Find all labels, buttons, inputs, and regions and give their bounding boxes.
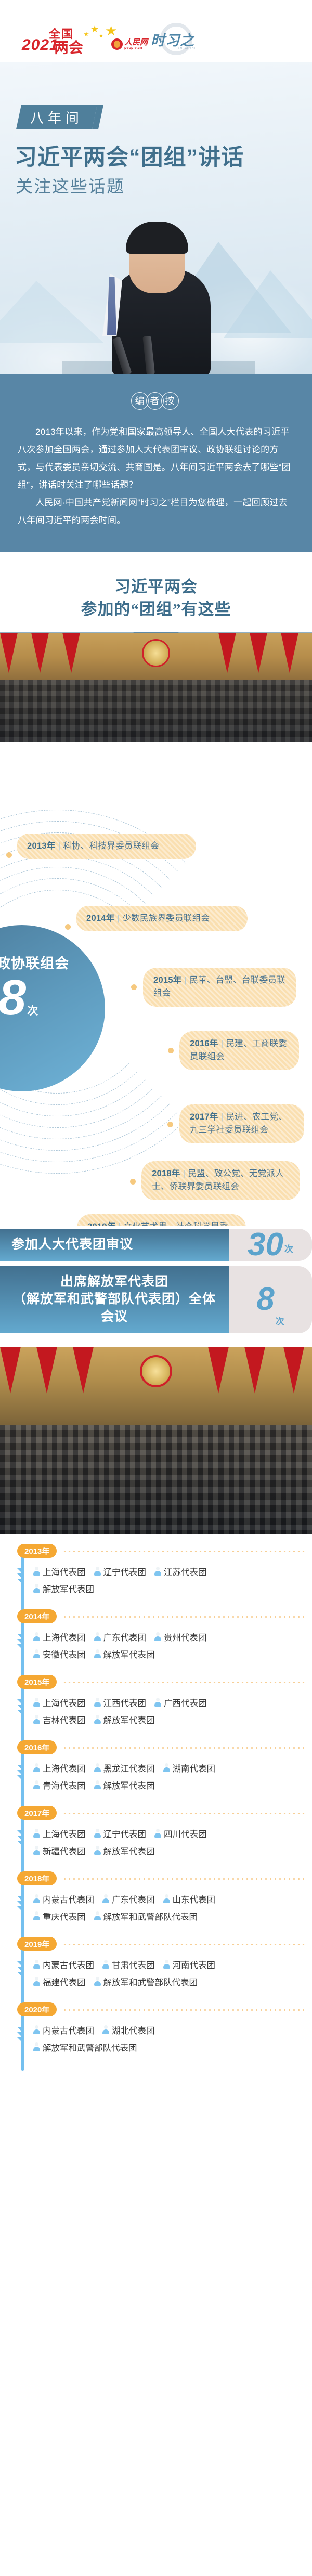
delegation-label: 内蒙古代表团 xyxy=(43,1958,94,1971)
timeline-year-header: 2013年 xyxy=(0,1543,312,1559)
delegation-item[interactable]: 内蒙古代表团 xyxy=(33,1958,94,1971)
timeline-year-chip[interactable]: 2013年 xyxy=(17,1544,57,1558)
person-icon xyxy=(102,2025,109,2034)
npc-counter-row: 参加人大代表团审议 30 次 xyxy=(0,1229,312,1261)
timeline-row: 上海代表团江西代表团广西代表团 xyxy=(33,1696,312,1709)
delegation-item[interactable]: 河南代表团 xyxy=(163,1958,216,1971)
timeline-year-block: 2017年上海代表团辽宁代表团四川代表团新疆代表团解放军代表团 xyxy=(0,1805,312,1871)
divider-line xyxy=(186,401,259,401)
person-icon xyxy=(94,1977,101,1986)
timeline-dotted-rule xyxy=(62,2009,305,2011)
delegation-label: 新疆代表团 xyxy=(43,1844,86,1857)
editor-note-section: 编 者 按 2013年以来，作为党和国家最高领导人、全国人大代表的习近平八次参加… xyxy=(0,374,312,552)
delegation-item[interactable]: 贵州代表团 xyxy=(154,1631,207,1643)
person-icon xyxy=(102,1894,109,1903)
person-icon xyxy=(154,1829,161,1838)
person-icon xyxy=(94,1649,101,1658)
delegation-item[interactable]: 江苏代表团 xyxy=(154,1565,207,1578)
timeline-year-chip[interactable]: 2017年 xyxy=(17,1806,57,1820)
timeline-chevron-group xyxy=(17,1896,29,1911)
delegation-item[interactable]: 解放军代表团 xyxy=(94,1844,155,1857)
delegation-label: 解放军代表团 xyxy=(103,1648,155,1660)
timeline-chevron-group xyxy=(17,1830,29,1846)
delegation-label: 上海代表团 xyxy=(43,1827,86,1840)
timeline-dotted-rule xyxy=(62,1747,305,1749)
person-icon xyxy=(94,1780,101,1789)
timeline-year-items: 上海代表团广东代表团贵州代表团安徽代表团解放军代表团 xyxy=(0,1624,312,1674)
timeline-year-block: 2019年内蒙古代表团甘肃代表团河南代表团福建代表团解放军和武警部队代表团 xyxy=(0,1936,312,2002)
timeline-row: 上海代表团辽宁代表团江苏代表团 xyxy=(33,1565,312,1578)
timeline-year-header: 2018年 xyxy=(0,1871,312,1887)
page-title: 习近平两会“团组”讲话 xyxy=(15,139,244,172)
person-icon xyxy=(33,1715,40,1724)
people-cn-zh: 人民网 xyxy=(124,38,148,46)
editor-note-badge: 编 者 按 xyxy=(134,392,179,410)
divider-line xyxy=(54,401,126,401)
npc-counter-number: 30 xyxy=(248,1229,283,1261)
lianghui-logo: 全国 2021 两会 ★★ ★★ 人民网 people.cn xyxy=(22,25,152,57)
person-icon xyxy=(94,1698,101,1707)
timeline-dotted-rule xyxy=(62,1616,305,1618)
timeline-dotted-rule xyxy=(62,1944,305,1945)
timeline-year-items: 上海代表团黑龙江代表团湖南代表团青海代表团解放军代表团 xyxy=(0,1755,312,1805)
person-icon xyxy=(154,1567,161,1576)
cppcc-item-year: 2016年 xyxy=(190,1039,218,1048)
logo-year-text: 2021 xyxy=(22,36,59,54)
npc-delegation-timeline: 2013年上海代表团辽宁代表团江苏代表团解放军代表团2014年上海代表团广东代表… xyxy=(0,1534,312,2088)
delegation-label: 山东代表团 xyxy=(173,1893,216,1905)
delegation-label: 广东代表团 xyxy=(112,1893,155,1905)
delegation-label: 上海代表团 xyxy=(43,1565,86,1578)
timeline-year-items: 内蒙古代表团广东代表团山东代表团重庆代表团解放军和武警部队代表团 xyxy=(0,1887,312,1936)
delegation-item[interactable]: 上海代表团 xyxy=(33,1631,86,1643)
cppcc-item-2016[interactable]: 2016年|民建、工商联委员联组会 xyxy=(179,1031,299,1070)
delegation-label: 青海代表团 xyxy=(43,1779,86,1791)
delegation-item[interactable]: 黑龙江代表团 xyxy=(94,1762,155,1774)
delegation-item[interactable]: 解放军和武警部队代表团 xyxy=(33,2041,137,2053)
timeline-row: 解放军代表团 xyxy=(33,1582,312,1595)
timeline-chevron-group xyxy=(17,2027,29,2042)
timeline-row: 吉林代表团解放军代表团 xyxy=(33,1713,312,1726)
delegation-label: 上海代表团 xyxy=(43,1631,86,1643)
person-icon xyxy=(154,1698,161,1707)
chevron-down-icon xyxy=(17,2027,24,2031)
cppcc-heading-line1: 习近平两会 xyxy=(114,578,198,596)
timeline-chevron-group xyxy=(17,1961,29,1977)
chevron-down-icon xyxy=(17,1710,24,1713)
delegation-label: 解放军代表团 xyxy=(103,1779,155,1791)
chevron-down-icon xyxy=(17,1644,24,1648)
timeline-year-header: 2019年 xyxy=(0,1936,312,1952)
timeline-dotted-rule xyxy=(62,1551,305,1552)
delegation-label: 解放军代表团 xyxy=(103,1844,155,1857)
timeline-row: 内蒙古代表团湖北代表团 xyxy=(33,2024,312,2036)
delegation-label: 福建代表团 xyxy=(43,1975,86,1988)
chevron-down-icon xyxy=(17,1967,24,1970)
npc-counter-label: 出席解放军代表团 （解放军和武警部队代表团）全体会议 xyxy=(0,1266,229,1333)
delegation-item[interactable]: 解放军代表团 xyxy=(33,1582,94,1595)
timeline-row: 内蒙古代表团广东代表团山东代表团 xyxy=(33,1893,312,1905)
timeline-dotted-rule xyxy=(62,1878,305,1880)
chevron-down-icon xyxy=(17,1579,24,1582)
delegation-label: 湖北代表团 xyxy=(112,2024,155,2036)
timeline-row: 内蒙古代表团甘肃代表团河南代表团 xyxy=(33,1958,312,1971)
person-icon xyxy=(102,1960,109,1969)
delegation-item[interactable]: 吉林代表团 xyxy=(33,1713,86,1726)
person-icon xyxy=(33,1894,40,1903)
delegation-item[interactable]: 湖南代表团 xyxy=(163,1762,216,1774)
person-icon xyxy=(33,1780,40,1789)
timeline-year-block: 2013年上海代表团辽宁代表团江苏代表团解放军代表团 xyxy=(0,1543,312,1609)
timeline-year-block: 2014年上海代表团广东代表团贵州代表团安徽代表团解放军代表团 xyxy=(0,1609,312,1674)
chevron-down-icon xyxy=(17,2032,24,2036)
delegation-label: 江苏代表团 xyxy=(164,1565,207,1578)
delegation-item[interactable]: 福建代表团 xyxy=(33,1975,86,1988)
delegation-label: 解放军和武警部队代表团 xyxy=(103,1975,198,1988)
delegation-label: 湖南代表团 xyxy=(173,1762,216,1774)
delegation-item[interactable]: 青海代表团 xyxy=(33,1779,86,1791)
connector-dot-icon xyxy=(167,1122,173,1127)
delegation-item[interactable]: 广东代表团 xyxy=(102,1893,155,1905)
delegation-label: 贵州代表团 xyxy=(164,1631,207,1643)
delegation-item[interactable]: 广西代表团 xyxy=(154,1696,207,1709)
delegation-label: 解放军和武警部队代表团 xyxy=(103,1910,198,1922)
delegation-label: 甘肃代表团 xyxy=(112,1958,155,1971)
shixizhi-logo: 时习之 SHI XI ZHI xyxy=(151,24,208,56)
timeline-year-items: 上海代表团辽宁代表团四川代表团新疆代表团解放军代表团 xyxy=(0,1821,312,1871)
person-icon xyxy=(33,1829,40,1838)
chevron-down-icon xyxy=(17,1634,24,1637)
delegation-label: 广西代表团 xyxy=(164,1696,207,1709)
cppcc-item-year: 2017年 xyxy=(190,1112,218,1122)
page-subtitle: 关注这些话题 xyxy=(16,173,125,198)
timeline-year-block: 2015年上海代表团江西代表团广西代表团吉林代表团解放军代表团 xyxy=(0,1674,312,1740)
cppcc-section-heading: 习近平两会 参加的“团组”有这些 xyxy=(0,552,312,633)
delegation-item[interactable]: 湖北代表团 xyxy=(102,2024,155,2036)
chevron-down-icon xyxy=(17,2037,24,2041)
timeline-year-chip[interactable]: 2015年 xyxy=(17,1675,57,1689)
timeline-year-chip[interactable]: 2014年 xyxy=(17,1609,57,1623)
timeline-year-header: 2020年 xyxy=(0,2002,312,2018)
delegation-label: 解放军和武警部队代表团 xyxy=(43,2041,137,2053)
timeline-row: 重庆代表团解放军和武警部队代表团 xyxy=(33,1910,312,1922)
delegation-label: 辽宁代表团 xyxy=(103,1565,147,1578)
person-icon xyxy=(94,1763,101,1772)
delegation-item[interactable]: 解放军代表团 xyxy=(94,1779,155,1791)
editor-note-body: 2013年以来，作为党和国家最高领导人、全国人大代表的习近平八次参加全国两会，通… xyxy=(18,423,294,529)
cppcc-count-label: 参加政协联组会 xyxy=(0,956,69,971)
person-icon xyxy=(163,1894,170,1903)
chevron-down-icon xyxy=(17,1573,24,1577)
delegation-label: 内蒙古代表团 xyxy=(43,1893,94,1905)
delegation-item[interactable]: 解放军和武警部队代表团 xyxy=(94,1910,198,1922)
delegation-item[interactable]: 解放军和武警部队代表团 xyxy=(94,1975,198,1988)
cppcc-item-2015[interactable]: 2015年|民革、台盟、台联委员联组会 xyxy=(143,968,296,1007)
chevron-down-icon xyxy=(17,1901,24,1905)
delegation-item[interactable]: 江西代表团 xyxy=(94,1696,147,1709)
cppcc-heading-line2: 参加的“团组”有这些 xyxy=(81,600,231,618)
timeline-row: 上海代表团广东代表团贵州代表团 xyxy=(33,1631,312,1643)
delegation-label: 重庆代表团 xyxy=(43,1910,86,1922)
delegation-item[interactable]: 辽宁代表团 xyxy=(94,1827,147,1840)
cppcc-item-2017[interactable]: 2017年|民进、农工党、九三学社委员联组会 xyxy=(179,1104,304,1143)
delegation-label: 上海代表团 xyxy=(43,1762,86,1774)
timeline-chevron-group xyxy=(17,1765,29,1780)
delegation-label: 河南代表团 xyxy=(173,1958,216,1971)
delegation-item[interactable]: 新疆代表团 xyxy=(33,1844,86,1857)
badge-char: 按 xyxy=(161,392,179,410)
delegation-label: 内蒙古代表团 xyxy=(43,2024,94,2036)
chevron-down-icon xyxy=(17,1961,24,1965)
national-emblem-icon xyxy=(142,639,170,667)
hero-section: 八年间 习近平两会“团组”讲话 关注这些话题 xyxy=(0,62,312,374)
person-icon xyxy=(163,1763,170,1772)
person-icon xyxy=(33,1567,40,1576)
connector-dot-icon xyxy=(65,924,71,930)
person-icon xyxy=(163,1960,170,1969)
person-icon xyxy=(94,1911,101,1920)
chevron-down-icon xyxy=(17,1705,24,1708)
chevron-down-icon xyxy=(17,1836,24,1839)
chevron-down-icon xyxy=(17,1775,24,1779)
timeline-dotted-rule xyxy=(62,1682,305,1683)
delegation-item[interactable]: 广东代表团 xyxy=(94,1631,147,1643)
person-icon xyxy=(33,2025,40,2034)
person-icon xyxy=(33,1911,40,1920)
timeline-row: 青海代表团解放军代表团 xyxy=(33,1779,312,1791)
timeline-year-chip[interactable]: 2016年 xyxy=(17,1740,57,1754)
cppcc-count-unit: 次 xyxy=(27,1005,38,1017)
person-icon xyxy=(33,1960,40,1969)
cppcc-item-2019[interactable]: 2019年|文化艺术界、社会科学界委员联组会 xyxy=(77,1214,246,1226)
timeline-year-header: 2016年 xyxy=(0,1740,312,1755)
timeline-year-chip[interactable]: 2020年 xyxy=(17,2002,57,2016)
delegation-label: 辽宁代表团 xyxy=(103,1827,147,1840)
delegation-item[interactable]: 内蒙古代表团 xyxy=(33,1893,94,1905)
chevron-down-icon xyxy=(17,1906,24,1910)
connector-dot-icon xyxy=(131,984,137,990)
cppcc-item-year: 2013年 xyxy=(27,841,56,851)
npc-counter-unit: 次 xyxy=(276,1314,284,1327)
cppcc-radial-diagram: 参加政协联组会 8次 2013年|科协、科技界委员联组会 2014年|少数民族界… xyxy=(0,742,312,1226)
cppcc-item-2014[interactable]: 2014年|少数民族界委员联组会 xyxy=(76,906,248,932)
person-icon xyxy=(33,2042,40,2051)
cppcc-item-year: 2018年 xyxy=(152,1169,180,1178)
timeline-year-header: 2017年 xyxy=(0,1805,312,1821)
delegation-label: 上海代表团 xyxy=(43,1696,86,1709)
timeline-year-block: 2018年内蒙古代表团广东代表团山东代表团重庆代表团解放军和武警部队代表团 xyxy=(0,1871,312,1936)
connector-dot-icon xyxy=(6,852,12,858)
cppcc-item-group: 科协、科技界委员联组会 xyxy=(63,841,159,851)
timeline-year-chip[interactable]: 2018年 xyxy=(17,1871,57,1885)
npc-counter-unit: 次 xyxy=(284,1242,293,1255)
delegation-item[interactable]: 上海代表团 xyxy=(33,1565,86,1578)
delegation-label: 吉林代表团 xyxy=(43,1713,86,1726)
chevron-down-icon xyxy=(17,1639,24,1643)
timeline-year-block: 2016年上海代表团黑龙江代表团湖南代表团青海代表团解放军代表团 xyxy=(0,1740,312,1805)
chevron-down-icon xyxy=(17,1830,24,1834)
hero-tag: 八年间 xyxy=(16,105,97,129)
npc-counter-label: 参加人大代表团审议 xyxy=(0,1229,229,1261)
delegation-label: 广东代表团 xyxy=(103,1631,147,1643)
npc-hall-photo xyxy=(0,1347,312,1534)
chevron-down-icon xyxy=(17,1972,24,1975)
delegation-item[interactable]: 上海代表团 xyxy=(33,1762,86,1774)
delegation-label: 江西代表团 xyxy=(103,1696,147,1709)
shixizhi-pinyin: SHI XI ZHI xyxy=(178,47,196,50)
cppcc-item-year: 2014年 xyxy=(86,914,115,923)
chevron-down-icon xyxy=(17,1770,24,1774)
person-icon xyxy=(94,1715,101,1724)
timeline-row: 上海代表团辽宁代表团四川代表团 xyxy=(33,1827,312,1840)
chevron-down-icon xyxy=(17,1896,24,1900)
npc-counter-row: 出席解放军代表团 （解放军和武警部队代表团）全体会议 8 次 xyxy=(0,1266,312,1333)
connector-dot-icon xyxy=(168,1048,174,1053)
person-icon xyxy=(94,1632,101,1641)
timeline-year-items: 上海代表团辽宁代表团江苏代表团解放军代表团 xyxy=(0,1559,312,1609)
cppcc-item-group: 少数民族界委员联组会 xyxy=(122,914,210,923)
person-icon xyxy=(33,1632,40,1641)
timeline-year-header: 2015年 xyxy=(0,1674,312,1690)
cppcc-item-2018[interactable]: 2018年|民盟、致公党、无党派人士、侨联界委员联组会 xyxy=(141,1161,300,1200)
person-icon xyxy=(33,1763,40,1772)
person-icon xyxy=(94,1829,101,1838)
delegation-item[interactable]: 上海代表团 xyxy=(33,1696,86,1709)
cppcc-item-year: 2019年 xyxy=(87,1222,116,1226)
delegation-label: 解放军代表团 xyxy=(43,1582,94,1595)
delegation-item[interactable]: 甘肃代表团 xyxy=(102,1958,155,1971)
cppcc-item-year: 2015年 xyxy=(153,975,182,985)
delegation-item[interactable]: 安徽代表团 xyxy=(33,1648,86,1660)
delegation-label: 黑龙江代表团 xyxy=(103,1762,155,1774)
people-cn-logo: 人民网 people.cn xyxy=(111,38,148,50)
person-icon xyxy=(33,1846,40,1855)
timeline-year-items: 内蒙古代表团甘肃代表团河南代表团福建代表团解放军和武警部队代表团 xyxy=(0,1952,312,2002)
delegation-item[interactable]: 四川代表团 xyxy=(154,1827,207,1840)
logo-bar: 全国 2021 两会 ★★ ★★ 人民网 people.cn 时习之 SHI X… xyxy=(0,0,312,62)
timeline-row: 福建代表团解放军和武警部队代表团 xyxy=(33,1975,312,1988)
chevron-down-icon xyxy=(17,1699,24,1703)
npc-counter-number: 8 xyxy=(256,1283,274,1316)
delegation-item[interactable]: 山东代表团 xyxy=(163,1893,216,1905)
delegation-item[interactable]: 解放军代表团 xyxy=(94,1648,155,1660)
cppcc-hall-photo xyxy=(0,633,312,742)
npc-counter-value: 30 次 xyxy=(229,1229,312,1261)
npc-counter-value: 8 次 xyxy=(229,1266,312,1333)
timeline-row: 新疆代表团解放军代表团 xyxy=(33,1844,312,1857)
infographic-page: 全国 2021 两会 ★★ ★★ 人民网 people.cn 时习之 SHI X… xyxy=(0,0,312,2088)
person-icon xyxy=(94,1846,101,1855)
editor-note-paragraph: 2013年以来，作为党和国家最高领导人、全国人大代表的习近平八次参加全国两会，通… xyxy=(18,423,294,494)
chevron-down-icon xyxy=(17,1841,24,1844)
delegation-item[interactable]: 辽宁代表团 xyxy=(94,1565,147,1578)
editor-note-paragraph: 人民网·中国共产党新闻网“时习之”栏目为您梳理，一起回顾过去八年间习近平的两会时… xyxy=(18,494,294,529)
delegation-label: 四川代表团 xyxy=(164,1827,207,1840)
chevron-down-icon xyxy=(17,1568,24,1572)
national-emblem-icon xyxy=(140,1355,172,1387)
timeline-dotted-rule xyxy=(62,1813,305,1814)
people-dot-icon xyxy=(111,38,123,50)
person-icon xyxy=(154,1632,161,1641)
person-icon xyxy=(33,1649,40,1658)
delegation-item[interactable]: 上海代表团 xyxy=(33,1827,86,1840)
people-cn-en: people.cn xyxy=(124,46,148,50)
cppcc-item-2013[interactable]: 2013年|科协、科技界委员联组会 xyxy=(17,834,196,860)
timeline-chevron-group xyxy=(17,1634,29,1649)
timeline-row: 上海代表团黑龙江代表团湖南代表团 xyxy=(33,1762,312,1774)
chevron-down-icon xyxy=(17,1765,24,1768)
timeline-year-chip[interactable]: 2019年 xyxy=(17,1937,57,1951)
person-icon xyxy=(94,1567,101,1576)
timeline-row: 解放军和武警部队代表团 xyxy=(33,2041,312,2053)
timeline-row: 安徽代表团解放军代表团 xyxy=(33,1648,312,1660)
leader-portrait-photo xyxy=(62,208,255,374)
logo-lianghui-text: 两会 xyxy=(54,36,83,57)
cppcc-count-number: 8 xyxy=(0,970,26,1025)
person-icon xyxy=(33,1977,40,1986)
editor-note-header: 编 者 按 xyxy=(18,392,294,410)
delegation-label: 解放军代表团 xyxy=(103,1713,155,1726)
person-icon xyxy=(33,1584,40,1593)
timeline-year-items: 内蒙古代表团湖北代表团解放军和武警部队代表团 xyxy=(0,2018,312,2067)
connector-dot-icon xyxy=(130,1179,136,1185)
npc-counters: 参加人大代表团审议 30 次 出席解放军代表团 （解放军和武警部队代表团）全体会… xyxy=(0,1226,312,1347)
timeline-year-block: 2020年内蒙古代表团湖北代表团解放军和武警部队代表团 xyxy=(0,2002,312,2067)
timeline-chevron-group xyxy=(17,1568,29,1584)
delegation-item[interactable]: 内蒙古代表团 xyxy=(33,2024,94,2036)
person-icon xyxy=(33,1698,40,1707)
delegation-label: 安徽代表团 xyxy=(43,1648,86,1660)
timeline-year-items: 上海代表团江西代表团广西代表团吉林代表团解放军代表团 xyxy=(0,1690,312,1740)
delegation-item[interactable]: 重庆代表团 xyxy=(33,1910,86,1922)
timeline-chevron-group xyxy=(17,1699,29,1715)
delegation-item[interactable]: 解放军代表团 xyxy=(94,1713,155,1726)
timeline-year-header: 2014年 xyxy=(0,1609,312,1624)
